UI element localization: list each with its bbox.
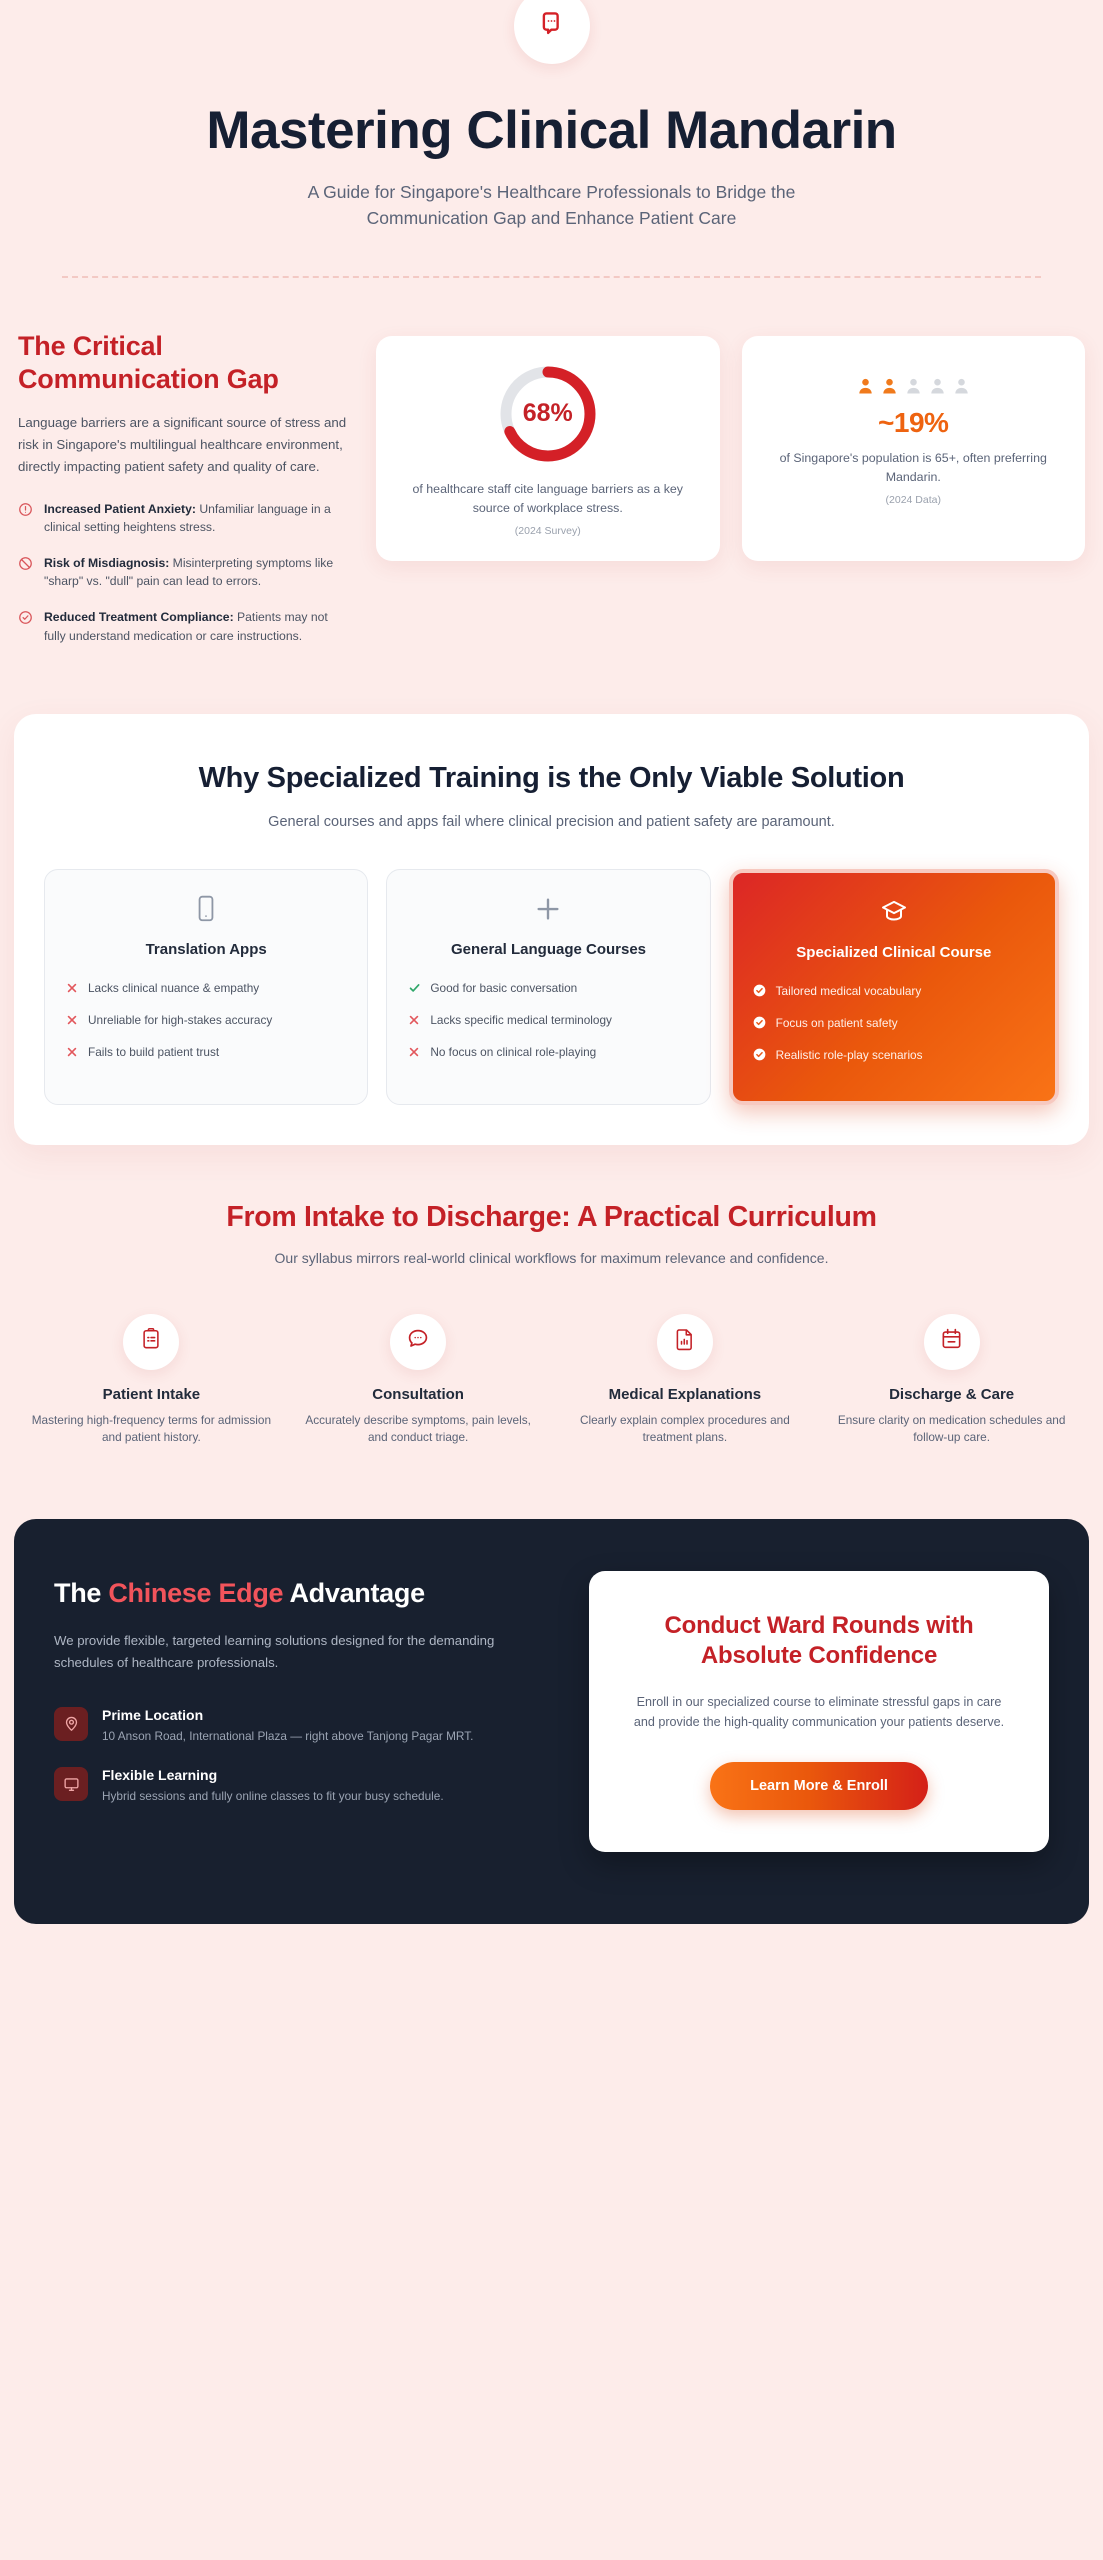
curriculum-step-icon-wrap <box>657 1314 713 1370</box>
curriculum-step-consultation: Consultation Accurately describe symptom… <box>285 1314 552 1447</box>
comparison-point: Focus on patient safety <box>776 1015 898 1032</box>
curriculum-step-desc: Ensure clarity on medication schedules a… <box>828 1412 1075 1447</box>
curriculum-section: From Intake to Discharge: A Practical Cu… <box>0 1145 1103 1447</box>
comparison-point: Realistic role-play scenarios <box>776 1047 923 1064</box>
curriculum-step-name: Patient Intake <box>28 1386 275 1403</box>
footer-title: The Chinese Edge Advantage <box>54 1577 555 1610</box>
footer-features: Prime Location 10 Anson Road, Internatio… <box>54 1707 555 1806</box>
stat-note: (2024 Survey) <box>396 525 700 537</box>
curriculum-step-icon-wrap <box>123 1314 179 1370</box>
list-item: Unreliable for high-stakes accuracy <box>65 1012 347 1031</box>
check-icon <box>407 981 421 999</box>
hero-badge <box>514 0 590 64</box>
hero-section: Mastering Clinical Mandarin A Guide for … <box>0 0 1103 278</box>
list-item: Lacks clinical nuance & empathy <box>65 980 347 999</box>
curriculum-step-medical-explanations: Medical Explanations Clearly explain com… <box>552 1314 819 1447</box>
mobile-phone-icon <box>65 894 347 928</box>
curriculum-step-name: Discharge & Care <box>828 1386 1075 1403</box>
footer-feature-desc: 10 Anson Road, International Plaza — rig… <box>102 1727 473 1745</box>
comparison-point: No focus on clinical role-playing <box>430 1044 596 1061</box>
list-item: Reduced Treatment Compliance: Patients m… <box>18 608 348 645</box>
donut-chart: 68% <box>496 362 600 466</box>
footer-feature-name: Prime Location <box>102 1707 473 1723</box>
footer-feature-prime-location: Prime Location 10 Anson Road, Internatio… <box>54 1707 555 1745</box>
cta-title: Conduct Ward Rounds with Absolute Confid… <box>625 1611 1013 1671</box>
check-circle-filled-icon <box>753 984 767 1002</box>
curriculum-step-patient-intake: Patient Intake Mastering high-frequency … <box>18 1314 285 1447</box>
footer-feature-text: Prime Location 10 Anson Road, Internatio… <box>102 1707 473 1745</box>
page-title: Mastering Clinical Mandarin <box>40 102 1063 159</box>
why-title: Why Specialized Training is the Only Via… <box>172 760 932 797</box>
speech-bubble-chat-icon <box>537 9 567 44</box>
page-subtitle: A Guide for Singapore's Healthcare Profe… <box>252 179 852 232</box>
curriculum-steps: Patient Intake Mastering high-frequency … <box>18 1314 1085 1447</box>
cross-icon <box>407 1045 421 1063</box>
document-chart-icon <box>674 1327 696 1356</box>
enroll-button[interactable]: Learn More & Enroll <box>710 1762 928 1810</box>
cta-body: Enroll in our specialized course to elim… <box>625 1692 1013 1732</box>
monitor-screen-icon <box>54 1767 88 1801</box>
curriculum-step-icon-wrap <box>390 1314 446 1370</box>
ban-prohibited-icon <box>18 556 33 576</box>
person-icon-filled <box>858 378 873 395</box>
cross-icon <box>65 1013 79 1031</box>
gap-item-bold: Increased Patient Anxiety: <box>44 502 196 516</box>
why-specialized-section: Why Specialized Training is the Only Via… <box>14 714 1089 1145</box>
footer-section: The Chinese Edge Advantage We provide fl… <box>14 1519 1089 1924</box>
comparison-point: Lacks specific medical terminology <box>430 1012 612 1029</box>
list-item: Realistic role-play scenarios <box>753 1047 1035 1066</box>
comparison-point: Unreliable for high-stakes accuracy <box>88 1012 272 1029</box>
footer-title-accent: Chinese Edge <box>108 1578 283 1608</box>
curriculum-title: From Intake to Discharge: A Practical Cu… <box>18 1201 1085 1234</box>
gap-item-text: Risk of Misdiagnosis: Misinterpreting sy… <box>44 554 348 591</box>
comparison-point: Tailored medical vocabulary <box>776 983 922 1000</box>
curriculum-step-desc: Accurately describe symptoms, pain level… <box>295 1412 542 1447</box>
person-icon-filled <box>882 378 897 395</box>
plus-icon <box>407 894 689 928</box>
stat-card-population: ~19% of Singapore's population is 65+, o… <box>742 336 1086 562</box>
curriculum-step-discharge-care: Discharge & Care Ensure clarity on medic… <box>818 1314 1085 1447</box>
cta-card: Conduct Ward Rounds with Absolute Confid… <box>589 1571 1049 1852</box>
stat-note: (2024 Data) <box>762 494 1066 506</box>
cross-icon <box>65 1045 79 1063</box>
person-icon-muted <box>906 378 921 395</box>
curriculum-step-icon-wrap <box>924 1314 980 1370</box>
person-icon-muted <box>954 378 969 395</box>
check-circle-filled-icon <box>753 1016 767 1034</box>
gap-item-bold: Reduced Treatment Compliance: <box>44 610 234 624</box>
gap-item-text: Reduced Treatment Compliance: Patients m… <box>44 608 348 645</box>
footer-title-post: Advantage <box>283 1578 425 1608</box>
people-row-icon <box>762 378 1066 395</box>
footer-left-column: The Chinese Edge Advantage We provide fl… <box>54 1571 555 1827</box>
curriculum-subtitle: Our syllabus mirrors real-world clinical… <box>242 1248 862 1269</box>
population-percent: ~19% <box>762 407 1066 439</box>
curriculum-step-name: Medical Explanations <box>562 1386 809 1403</box>
donut-value-label: 68% <box>496 362 600 466</box>
calendar-icon <box>940 1327 963 1356</box>
curriculum-step-desc: Clearly explain complex procedures and t… <box>562 1412 809 1447</box>
why-subtitle: General courses and apps fail where clin… <box>232 812 872 834</box>
curriculum-step-desc: Mastering high-frequency terms for admis… <box>28 1412 275 1447</box>
map-pin-icon <box>54 1707 88 1741</box>
comparison-point: Good for basic conversation <box>430 980 577 997</box>
stat-caption: of Singapore's population is 65+, often … <box>762 449 1066 487</box>
list-item: Fails to build patient trust <box>65 1044 347 1063</box>
infographic-page: Mastering Clinical Mandarin A Guide for … <box>0 0 1103 1924</box>
footer-feature-desc: Hybrid sessions and fully online classes… <box>102 1787 444 1805</box>
comparison-card-name: Specialized Clinical Course <box>753 943 1035 963</box>
clipboard-icon <box>140 1327 162 1356</box>
list-item: Lacks specific medical terminology <box>407 1012 689 1031</box>
gap-stat-cards: 68% of healthcare staff cite language ba… <box>376 330 1085 562</box>
graduation-cap-icon <box>753 897 1035 931</box>
comparison-point: Lacks clinical nuance & empathy <box>88 980 259 997</box>
gap-item-text: Increased Patient Anxiety: Unfamiliar la… <box>44 500 348 537</box>
alert-circle-icon <box>18 502 33 522</box>
gap-item-bold: Risk of Misdiagnosis: <box>44 556 169 570</box>
comparison-point: Fails to build patient trust <box>88 1044 219 1061</box>
check-circle-filled-icon <box>753 1048 767 1066</box>
comparison-card-name: General Language Courses <box>407 940 689 960</box>
comparison-card-name: Translation Apps <box>65 940 347 960</box>
gap-title: The Critical Communication Gap <box>18 330 348 396</box>
footer-body: We provide flexible, targeted learning s… <box>54 1630 555 1675</box>
footer-feature-name: Flexible Learning <box>102 1767 444 1783</box>
list-item: Focus on patient safety <box>753 1015 1035 1034</box>
list-item: Tailored medical vocabulary <box>753 983 1035 1002</box>
gap-risk-list: Increased Patient Anxiety: Unfamiliar la… <box>18 500 348 645</box>
footer-title-pre: The <box>54 1578 108 1608</box>
list-item: No focus on clinical role-playing <box>407 1044 689 1063</box>
comparison-card-general-courses: General Language Courses Good for basic … <box>386 869 710 1105</box>
list-item: Risk of Misdiagnosis: Misinterpreting sy… <box>18 554 348 591</box>
stat-caption: of healthcare staff cite language barrie… <box>396 480 700 518</box>
list-item: Increased Patient Anxiety: Unfamiliar la… <box>18 500 348 537</box>
gap-text-column: The Critical Communication Gap Language … <box>18 330 348 662</box>
person-icon-muted <box>930 378 945 395</box>
comparison-cards: Translation Apps Lacks clinical nuance &… <box>44 869 1059 1105</box>
communication-gap-section: The Critical Communication Gap Language … <box>0 278 1103 662</box>
comparison-card-specialized-course: Specialized Clinical Course Tailored med… <box>729 869 1059 1105</box>
stat-card-donut: 68% of healthcare staff cite language ba… <box>376 336 720 562</box>
footer-feature-text: Flexible Learning Hybrid sessions and fu… <box>102 1767 444 1805</box>
curriculum-step-name: Consultation <box>295 1386 542 1403</box>
check-circle-icon <box>18 610 33 630</box>
gap-body: Language barriers are a significant sour… <box>18 412 348 478</box>
comparison-card-translation-apps: Translation Apps Lacks clinical nuance &… <box>44 869 368 1105</box>
list-item: Good for basic conversation <box>407 980 689 999</box>
cross-icon <box>407 1013 421 1031</box>
footer-feature-flexible-learning: Flexible Learning Hybrid sessions and fu… <box>54 1767 555 1805</box>
cross-icon <box>65 981 79 999</box>
chat-bubble-icon <box>406 1327 430 1356</box>
